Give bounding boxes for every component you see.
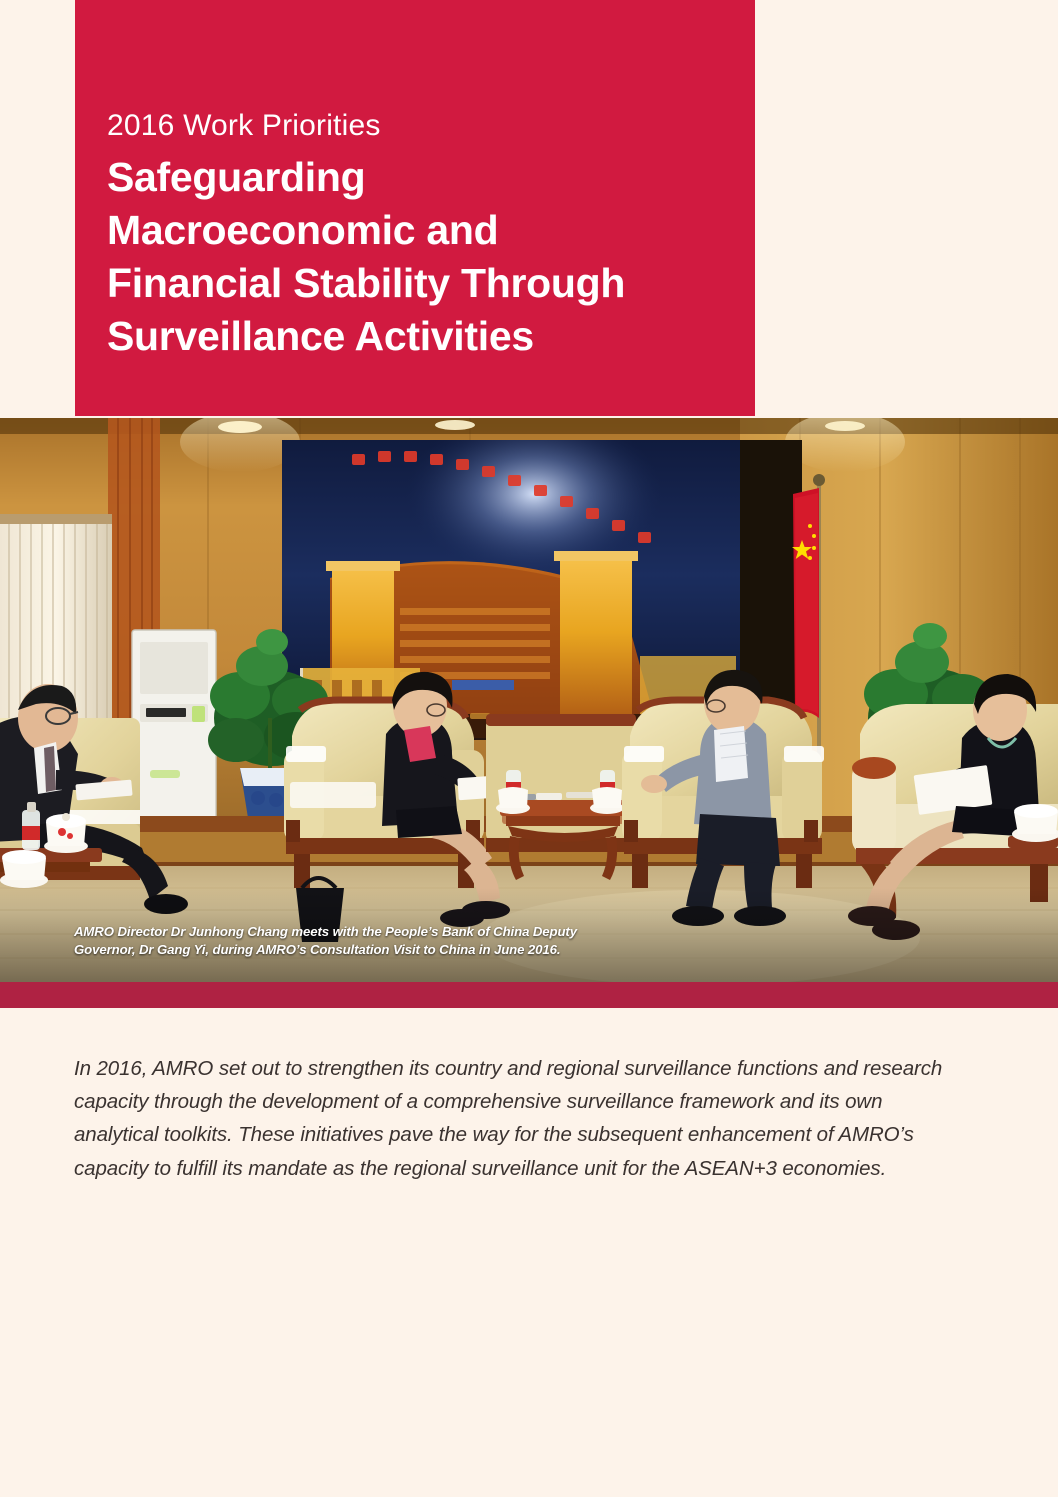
headline-line-2: Macroeconomic and [107, 204, 755, 257]
meeting-photograph: AMRO Director Dr Junhong Chang meets wit… [0, 418, 1058, 982]
headline-line-1: Safeguarding [107, 151, 755, 204]
headline-line-3: Financial Stability Through [107, 257, 755, 310]
intro-paragraph: In 2016, AMRO set out to strengthen its … [74, 1052, 964, 1185]
accent-strip [0, 982, 1058, 1008]
page-title: Safeguarding Macroeconomic and Financial… [107, 151, 755, 363]
document-page: 2016 Work Priorities Safeguarding Macroe… [0, 0, 1058, 1497]
photo-illustration [0, 418, 1058, 982]
eyebrow-label: 2016 Work Priorities [107, 108, 755, 144]
photo-caption: AMRO Director Dr Junhong Chang meets wit… [74, 923, 634, 960]
headline-line-4: Surveillance Activities [107, 310, 755, 363]
title-banner: 2016 Work Priorities Safeguarding Macroe… [75, 0, 755, 416]
